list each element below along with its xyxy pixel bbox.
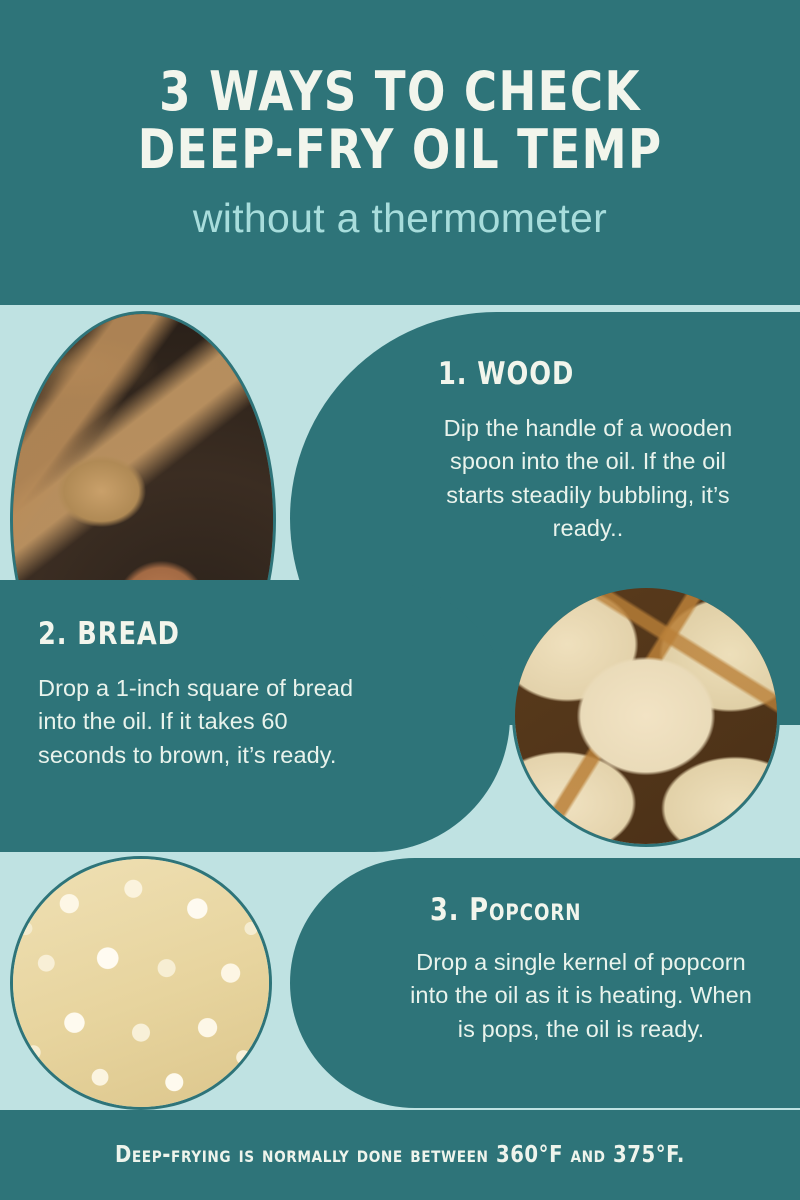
step-3-title: 3. Popcorn: [430, 892, 735, 928]
page-title-line-1: 3 Ways to Check: [159, 63, 641, 121]
page-title-line-2: Deep-Fry Oil Temp: [138, 121, 663, 179]
bread-slices-photo: [512, 585, 780, 847]
footer-banner: Deep-frying is normally done between 360…: [0, 1110, 800, 1200]
step-1-header: 1. WOOD: [420, 356, 756, 392]
step-1-body: Dip the handle of a wooden spoon into th…: [420, 412, 756, 545]
step-3-body: Drop a single kernel of popcorn into the…: [400, 946, 762, 1046]
popcorn-photo: [10, 856, 272, 1110]
footer-note: Deep-frying is normally done between 360…: [115, 1142, 685, 1168]
step-2-body: Drop a 1-inch square of bread into the o…: [38, 672, 360, 772]
step-card-bread: 2. BREAD Drop a 1-inch square of bread i…: [0, 580, 510, 852]
popcorn-image: [13, 859, 269, 1107]
step-1-title: 1. WOOD: [438, 356, 731, 392]
step-3-header: 3. Popcorn: [400, 892, 762, 928]
header-banner: 3 Ways to Check Deep-Fry Oil Temp withou…: [0, 0, 800, 305]
step-2-title: 2. BREAD: [38, 616, 334, 652]
page-subtitle: without a thermometer: [193, 195, 607, 242]
step-2-header: 2. BREAD: [38, 616, 360, 652]
bread-slices-image: [515, 588, 777, 844]
step-card-popcorn: 3. Popcorn Drop a single kernel of popco…: [290, 858, 800, 1108]
